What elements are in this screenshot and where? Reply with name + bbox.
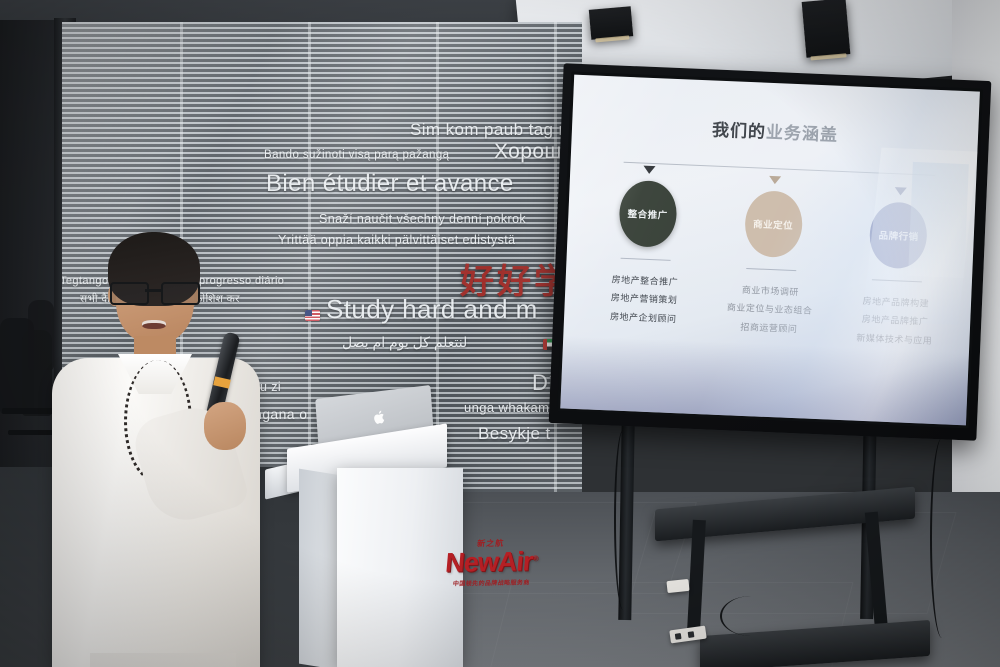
category-circle-2: 商业定位 [743,190,803,258]
registered-mark-icon: ® [532,555,537,562]
glasses-lens [161,282,200,305]
socket-icon [688,631,695,638]
slide-title-secondary: 业务涵盖 [766,123,839,145]
column-items-1: 房地产整合推广 房地产营销策划 房地产企划顾问 [610,270,679,328]
power-cable [614,430,632,610]
slide-bottom-gradient [560,335,969,425]
list-item: 房地产企划顾问 [610,307,677,328]
podium-front-panel: 新之航 NewAir® 中国领先的品牌战略服务商 [337,468,463,667]
wall-display: 我们的业务涵盖 整合推广 房地产整合推广 房地产营销策划 房地产企划顾问 [549,63,992,441]
podium-side-panel [299,469,341,667]
power-cable [930,438,954,638]
logo-text: NewAir [444,546,534,578]
category-circle-1: 整合推广 [618,180,678,248]
display-bezel: 我们的业务涵盖 整合推广 房地产整合推广 房地产营销策划 房地产企划顾问 [557,72,983,429]
list-item: 招商运营顾问 [726,317,812,339]
socket-icon [675,633,682,640]
eyeglasses [110,282,202,301]
glasses-lens [110,282,149,305]
triangle-marker-icon [643,165,655,173]
glasses-bridge [145,289,161,292]
list-item: 房地产营销策划 [610,289,677,310]
window-reflection [862,148,977,325]
hand-holding-mic [204,402,246,450]
presentation-slide: 我们的业务涵盖 整合推广 房地产整合推广 房地产营销策划 房地产企划顾问 [560,75,980,426]
presentation-room-photo: Sim kom paub tag n Bando sužinoti visą p… [0,0,1000,667]
apple-logo-icon [372,409,386,426]
pendant-light [589,6,633,40]
logo-wordmark: NewAir® [434,548,548,577]
mouth [142,320,166,329]
column-underline [746,268,796,271]
slide-title-main: 我们的 [712,121,767,142]
power-adapter [666,579,689,593]
white-pants [90,653,236,667]
column-underline [621,258,671,261]
list-item: 商业定位与业态组合 [727,299,813,321]
power-cable [720,596,782,636]
pendant-light [802,0,851,58]
lectern-podium: 新之航 NewAir® 中国领先的品牌战略服务商 [265,410,465,667]
column-items-2: 商业市场调研 商业定位与业态组合 招商运营顾问 [726,280,814,339]
presenter-person [46,228,262,667]
triangle-marker-icon [769,176,781,184]
newair-logo: 新之航 NewAir® 中国领先的品牌战略服务商 [435,537,548,588]
slide-title: 我们的业务涵盖 [572,110,979,152]
